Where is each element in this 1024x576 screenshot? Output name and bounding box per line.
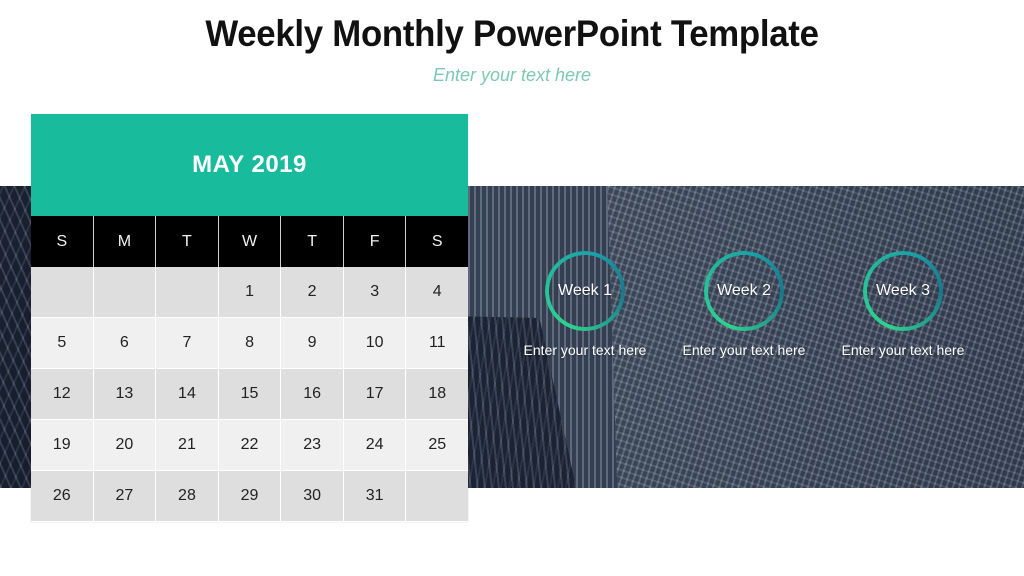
calendar-dow-6: S <box>406 216 468 267</box>
calendar-day-cell[interactable]: 24 <box>344 420 407 471</box>
calendar-day-cell[interactable]: 1 <box>219 267 282 318</box>
calendar-empty-cell <box>94 267 157 318</box>
calendar-day-cell[interactable]: 10 <box>344 318 407 369</box>
page-subtitle: Enter your text here <box>0 63 1024 87</box>
calendar-day-cell[interactable]: 23 <box>281 420 344 471</box>
week-caption-1: Enter your text here <box>505 341 665 360</box>
calendar-header: MAY 2019 <box>31 114 468 216</box>
calendar-week-row: 262728293031 <box>31 471 468 522</box>
calendar-week-row: 19202122232425 <box>31 420 468 471</box>
calendar-day-cell[interactable]: 21 <box>156 420 219 471</box>
calendar-day-cell[interactable]: 31 <box>344 471 407 522</box>
calendar-empty-cell <box>31 267 94 318</box>
week-item-3[interactable]: Week 3 Enter your text here <box>823 251 983 360</box>
week-caption-3: Enter your text here <box>823 341 983 360</box>
calendar-empty-cell <box>406 471 468 522</box>
calendar-dow-5: F <box>344 216 407 267</box>
calendar-day-cell[interactable]: 22 <box>219 420 282 471</box>
calendar-day-cell[interactable]: 20 <box>94 420 157 471</box>
page-title: Weekly Monthly PowerPoint Template <box>31 12 994 56</box>
calendar-dow-0: S <box>31 216 94 267</box>
calendar-day-cell[interactable]: 9 <box>281 318 344 369</box>
calendar-day-cell[interactable]: 28 <box>156 471 219 522</box>
calendar-day-cell[interactable]: 29 <box>219 471 282 522</box>
calendar-day-cell[interactable]: 8 <box>219 318 282 369</box>
calendar[interactable]: MAY 2019 SMTWTFS 12345678910111213141516… <box>31 114 468 522</box>
calendar-empty-cell <box>156 267 219 318</box>
calendar-day-cell[interactable]: 3 <box>344 267 407 318</box>
calendar-day-cell[interactable]: 26 <box>31 471 94 522</box>
week-ring-3: Week 3 <box>863 251 943 331</box>
week-label-2: Week 2 <box>704 251 784 331</box>
calendar-day-cell[interactable]: 16 <box>281 369 344 420</box>
calendar-day-cell[interactable]: 7 <box>156 318 219 369</box>
calendar-day-cell[interactable]: 27 <box>94 471 157 522</box>
calendar-day-cell[interactable]: 30 <box>281 471 344 522</box>
calendar-day-cell[interactable]: 19 <box>31 420 94 471</box>
calendar-week-row: 12131415161718 <box>31 369 468 420</box>
week-item-1[interactable]: Week 1 Enter your text here <box>505 251 665 360</box>
calendar-month-label: MAY 2019 <box>192 151 307 179</box>
calendar-week-row: 567891011 <box>31 318 468 369</box>
skyscraper-edge-sliver <box>0 186 34 488</box>
calendar-day-cell[interactable]: 12 <box>31 369 94 420</box>
calendar-day-cell[interactable]: 2 <box>281 267 344 318</box>
calendar-day-cell[interactable]: 4 <box>406 267 468 318</box>
calendar-day-cell[interactable]: 15 <box>219 369 282 420</box>
calendar-day-cell[interactable]: 6 <box>94 318 157 369</box>
calendar-dow-3: W <box>219 216 282 267</box>
week-label-1: Week 1 <box>545 251 625 331</box>
calendar-day-cell[interactable]: 25 <box>406 420 468 471</box>
week-ring-2: Week 2 <box>704 251 784 331</box>
calendar-dow-1: M <box>94 216 157 267</box>
calendar-dow-2: T <box>156 216 219 267</box>
week-ring-1: Week 1 <box>545 251 625 331</box>
week-label-3: Week 3 <box>863 251 943 331</box>
week-caption-2: Enter your text here <box>664 341 824 360</box>
calendar-dow-row: SMTWTFS <box>31 216 468 267</box>
calendar-day-cell[interactable]: 14 <box>156 369 219 420</box>
calendar-day-cell[interactable]: 18 <box>406 369 468 420</box>
calendar-day-cell[interactable]: 13 <box>94 369 157 420</box>
calendar-day-cell[interactable]: 5 <box>31 318 94 369</box>
slide-canvas: Weekly Monthly PowerPoint Template Enter… <box>0 0 1024 576</box>
calendar-body: 1234567891011121314151617181920212223242… <box>31 267 468 522</box>
week-item-2[interactable]: Week 2 Enter your text here <box>664 251 824 360</box>
calendar-week-row: 1234 <box>31 267 468 318</box>
calendar-day-cell[interactable]: 11 <box>406 318 468 369</box>
calendar-day-cell[interactable]: 17 <box>344 369 407 420</box>
calendar-dow-4: T <box>281 216 344 267</box>
